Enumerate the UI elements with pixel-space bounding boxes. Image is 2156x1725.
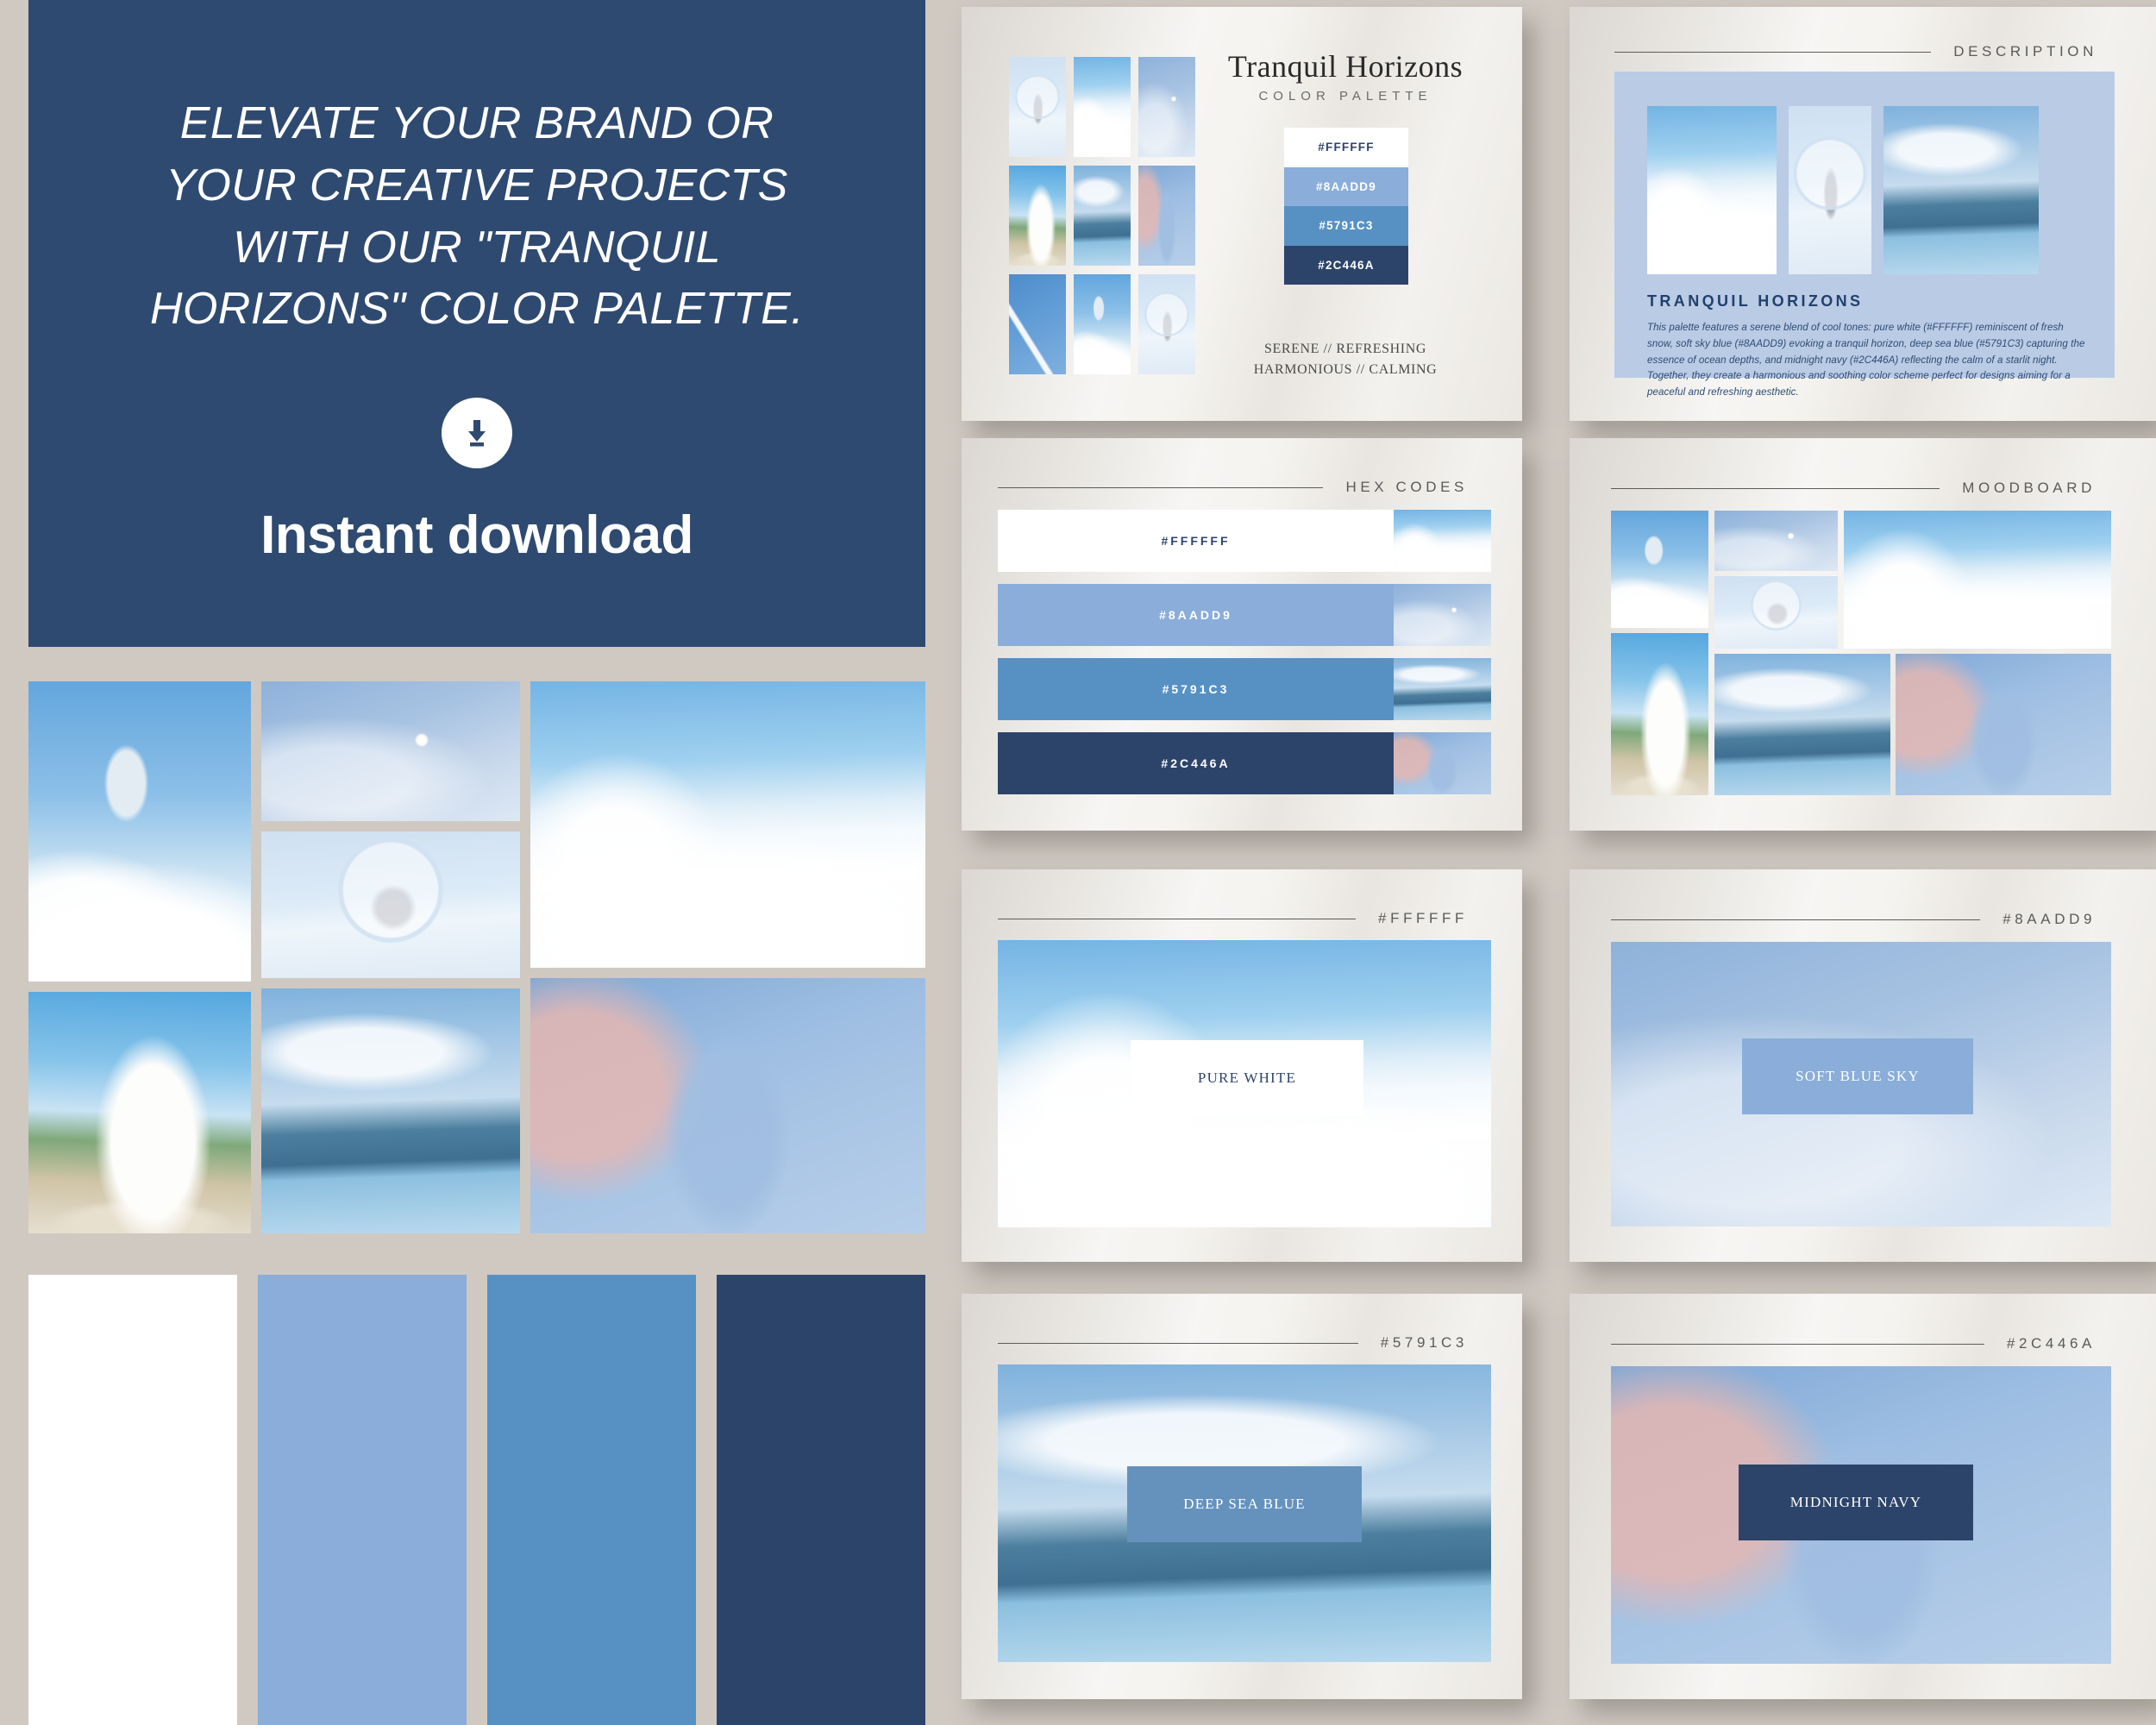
hero-headline: ELEVATE YOUR BRAND OR YOUR CREATIVE PROJ… bbox=[132, 93, 822, 341]
poster-hex-value: #2C446A bbox=[1318, 259, 1374, 272]
hex-row-thumbnail bbox=[1394, 732, 1491, 794]
desc-photo-circle bbox=[1789, 106, 1871, 274]
palette-swatch-strip bbox=[28, 1275, 925, 1725]
hex-row-value: #8AADD9 bbox=[1159, 608, 1232, 622]
section-label-hex-codes: HEX CODES bbox=[1345, 479, 1468, 496]
card-showcase-midnight-navy[interactable]: #2C446A MIDNIGHT NAVY bbox=[1570, 1294, 2156, 1699]
mood-photo-woman bbox=[1896, 654, 2111, 795]
hero-banner: ELEVATE YOUR BRAND OR YOUR CREATIVE PROJ… bbox=[28, 0, 925, 647]
poster-photo-moon bbox=[1138, 57, 1195, 157]
card-hex-codes[interactable]: HEX CODES #FFFFFF #8AADD9 #5791C3 bbox=[962, 438, 1522, 831]
poster-tags: SERENE // REFRESHING HARMONIOUS // CALMI… bbox=[1212, 339, 1479, 380]
description-photo-row bbox=[1647, 106, 2061, 274]
mood-photo-horse bbox=[1611, 633, 1708, 795]
card-header-hex-codes: HEX CODES bbox=[998, 479, 1468, 496]
mood-photo-sea bbox=[1714, 654, 1890, 795]
poster-photo-sea bbox=[1074, 166, 1131, 266]
section-label-description: DESCRIPTION bbox=[1953, 43, 2097, 60]
hex-row-thumbnail bbox=[1394, 658, 1491, 720]
description-body: This palette features a serene blend of … bbox=[1647, 320, 2087, 401]
hex-row-thumbnail bbox=[1394, 510, 1491, 572]
hex-row-value: #5791C3 bbox=[1163, 682, 1230, 696]
swatch-deep-sea-blue bbox=[487, 1275, 696, 1725]
swatch-pure-white bbox=[28, 1275, 237, 1725]
hex-code-row: #5791C3 bbox=[998, 658, 1491, 720]
card-header-soft-blue-sky: #8AADD9 bbox=[1611, 911, 2096, 928]
desc-photo-sea bbox=[1883, 106, 2039, 274]
card-description[interactable]: DESCRIPTION TRANQUIL HORIZONS This palet… bbox=[1570, 7, 2156, 421]
section-label-hex: #2C446A bbox=[2007, 1335, 2096, 1352]
poster-hex-stack: #FFFFFF #8AADD9 #5791C3 #2C446A bbox=[1284, 128, 1408, 285]
card-color-palette-poster[interactable]: Tranquil Horizons COLOR PALETTE #FFFFFF … bbox=[962, 7, 1522, 421]
color-name-chip: MIDNIGHT NAVY bbox=[1739, 1465, 1973, 1540]
header-rule bbox=[998, 487, 1323, 488]
instant-download-label: Instant download bbox=[260, 505, 693, 566]
photo-ski-lift bbox=[530, 681, 925, 968]
poster-tags-line-2: HARMONIOUS // CALMING bbox=[1212, 360, 1479, 380]
poster-photo-bubble bbox=[1009, 57, 1066, 157]
poster-hex-row: #2C446A bbox=[1284, 246, 1408, 285]
hex-code-rows: #FFFFFF #8AADD9 #5791C3 #2C446A bbox=[998, 510, 1491, 794]
header-rule bbox=[998, 919, 1356, 919]
poster-title: Tranquil Horizons bbox=[1212, 48, 1479, 85]
color-name-label: PURE WHITE bbox=[1198, 1069, 1296, 1087]
mood-photo-circle bbox=[1714, 576, 1838, 649]
poster-photo-portal bbox=[1138, 274, 1195, 374]
hex-row-swatch: #2C446A bbox=[998, 732, 1394, 794]
moodboard-photo-grid bbox=[1611, 511, 2111, 795]
color-name-label: DEEP SEA BLUE bbox=[1183, 1496, 1306, 1513]
section-label-hex: #FFFFFF bbox=[1378, 910, 1468, 927]
photo-sea-kayak bbox=[261, 988, 520, 1233]
section-label-hex: #5791C3 bbox=[1381, 1334, 1468, 1352]
hex-code-row: #8AADD9 bbox=[998, 584, 1491, 646]
poster-hex-row: #FFFFFF bbox=[1284, 128, 1408, 167]
desc-photo-ski bbox=[1647, 106, 1777, 274]
header-rule bbox=[1614, 52, 1931, 53]
photo-white-horse bbox=[28, 992, 251, 1233]
left-moodboard-collage bbox=[28, 681, 925, 1233]
hex-row-swatch: #FFFFFF bbox=[998, 510, 1394, 572]
hex-row-swatch: #5791C3 bbox=[998, 658, 1394, 720]
card-header-moodboard: MOODBOARD bbox=[1611, 480, 2096, 497]
color-name-label: MIDNIGHT NAVY bbox=[1790, 1494, 1921, 1511]
download-circle-icon[interactable] bbox=[442, 398, 512, 468]
photo-woman-waving bbox=[530, 978, 925, 1233]
description-panel: TRANQUIL HORIZONS This palette features … bbox=[1614, 72, 2115, 378]
hex-row-value: #FFFFFF bbox=[1161, 534, 1230, 548]
poster-hex-value: #5791C3 bbox=[1319, 219, 1373, 232]
poster-photo-grid bbox=[1009, 57, 1195, 374]
poster-photo-road bbox=[1009, 274, 1066, 374]
poster-hex-value: #8AADD9 bbox=[1316, 180, 1376, 193]
header-rule bbox=[998, 1343, 1358, 1344]
swatch-soft-blue-sky bbox=[258, 1275, 467, 1725]
mood-photo-moon bbox=[1714, 511, 1838, 571]
hex-row-swatch: #8AADD9 bbox=[998, 584, 1394, 646]
card-showcase-soft-blue-sky[interactable]: #8AADD9 SOFT BLUE SKY bbox=[1570, 869, 2156, 1262]
hex-code-row: #2C446A bbox=[998, 732, 1491, 794]
poster-hex-value: #FFFFFF bbox=[1318, 141, 1374, 154]
section-label-moodboard: MOODBOARD bbox=[1962, 480, 2096, 497]
hex-code-row: #FFFFFF bbox=[998, 510, 1491, 572]
hex-row-thumbnail bbox=[1394, 584, 1491, 646]
mood-photo-balloon bbox=[1611, 511, 1708, 628]
card-header-deep-sea-blue: #5791C3 bbox=[998, 1334, 1468, 1352]
hex-row-value: #2C446A bbox=[1161, 756, 1230, 770]
card-header-pure-white: #FFFFFF bbox=[998, 910, 1468, 927]
swatch-midnight-navy bbox=[717, 1275, 925, 1725]
poster-photo-balloon bbox=[1074, 274, 1131, 374]
card-moodboard[interactable]: MOODBOARD bbox=[1570, 438, 2156, 831]
card-showcase-deep-sea-blue[interactable]: #5791C3 DEEP SEA BLUE bbox=[962, 1294, 1522, 1699]
color-name-chip: DEEP SEA BLUE bbox=[1127, 1466, 1362, 1542]
card-header-description: DESCRIPTION bbox=[1614, 43, 2097, 60]
description-title: TRANQUIL HORIZONS bbox=[1647, 292, 1863, 310]
promo-left-column: ELEVATE YOUR BRAND OR YOUR CREATIVE PROJ… bbox=[28, 0, 925, 1725]
color-name-label: SOFT BLUE SKY bbox=[1796, 1068, 1920, 1085]
poster-hex-row: #8AADD9 bbox=[1284, 167, 1408, 207]
poster-tags-line-1: SERENE // REFRESHING bbox=[1212, 339, 1479, 360]
color-name-chip: PURE WHITE bbox=[1131, 1040, 1363, 1116]
header-rule bbox=[1611, 919, 1980, 920]
poster-photo-horse bbox=[1009, 166, 1066, 266]
color-name-chip: SOFT BLUE SKY bbox=[1742, 1038, 1973, 1114]
poster-hex-row: #5791C3 bbox=[1284, 206, 1408, 246]
photo-balloon bbox=[28, 681, 251, 982]
header-rule bbox=[1611, 1344, 1984, 1345]
photo-circle-figure bbox=[261, 831, 520, 978]
poster-photo-woman bbox=[1138, 166, 1195, 266]
photo-moon-sky bbox=[261, 681, 520, 821]
header-rule bbox=[1611, 488, 1940, 489]
section-label-hex: #8AADD9 bbox=[2002, 911, 2096, 928]
mood-photo-ski bbox=[1844, 511, 2111, 649]
card-showcase-pure-white[interactable]: #FFFFFF PURE WHITE bbox=[962, 869, 1522, 1262]
card-header-midnight-navy: #2C446A bbox=[1611, 1335, 2096, 1352]
poster-photo-ski bbox=[1074, 57, 1131, 157]
poster-subtitle: COLOR PALETTE bbox=[1212, 89, 1479, 103]
